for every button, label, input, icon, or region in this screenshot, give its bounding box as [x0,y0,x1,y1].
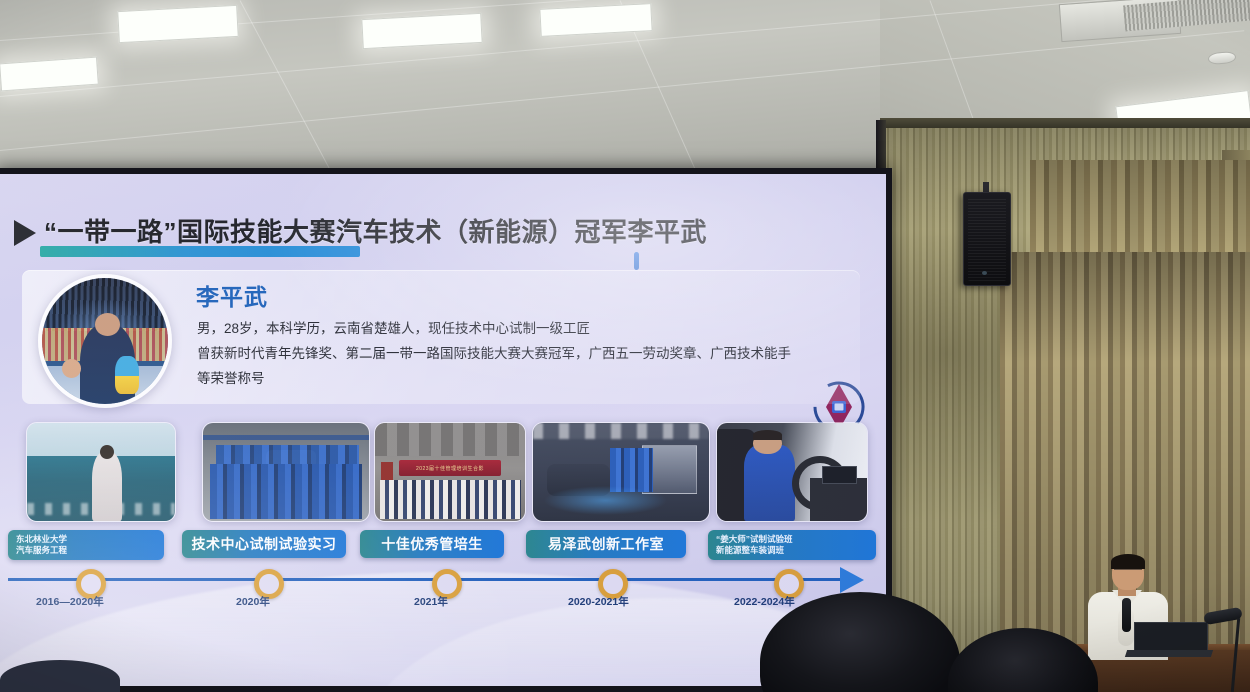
profile-description: 男，28岁，本科学历，云南省楚雄人，现任技术中心试制一级工匠 曾获新时代青年先锋… [197,316,847,391]
photo-driver-hair [753,430,782,440]
timeline-chip-title: 十佳优秀管培生 [381,534,483,554]
slide-title-row: “一带一路”国际技能大赛汽车技术（新能源）冠军李平武 [14,212,874,258]
photo-award-ceremony: 2023届十佳管理培训生合影 [375,423,525,521]
presenter-hair [1111,554,1145,569]
photo-lab-glow [544,486,667,515]
photo-thumbnail [202,422,370,522]
ceiling-light-panel [117,5,239,43]
photo-driver-body [744,445,795,521]
presentation-slide: “一带一路”国际技能大赛汽车技术（新能源）冠军李平武 李平武 男 [0,174,886,686]
timeline-axis [8,578,842,581]
profile-line: 曾获新时代青年先锋奖、第二届一带一路国际技能大赛大赛冠军，广西五一劳动奖章、广西… [197,341,847,366]
photo-banner-text: 2023届十佳管理培训生合影 [399,460,501,476]
timeline-chip-title: 技术中心试制试验实习 [192,534,337,554]
photo-infotainment-screen [822,466,857,484]
photo-thumbnail [716,422,868,522]
photo-lab-crew [610,448,652,491]
photo-thumbnail: 2023届十佳管理培训生合影 [374,422,526,522]
audience-shoulder [0,660,120,692]
photo-dashboard [810,478,867,521]
photo-lab-lights [533,423,709,439]
timeline-chip: 十佳优秀管培生 [360,530,504,558]
timeline-chip-title: “姜大师”试制试验班 [716,534,793,545]
photo-beam [203,435,369,440]
timeline-chip: 易泽武创新工作室 [526,530,686,558]
timeline-date: 2020-2021年 [568,594,629,609]
timeline-chip: 东北林业大学 汽车服务工程 [8,530,164,560]
stand-microphone [1200,610,1248,692]
timeline-chip-title: 东北林业大学 [16,534,67,545]
photo-thumbnail [26,422,176,522]
laptop-screen [1134,622,1208,652]
photo-strip: 2023届十佳管理培训生合影 [26,422,866,522]
profile-name: 李平武 [196,278,268,312]
laptop [1126,622,1208,658]
photo-group-row [380,480,521,519]
glasses-icon [1114,569,1142,576]
photo-person [92,452,122,521]
photo-sea-portrait [27,423,175,521]
ceiling-light-panel [361,13,482,49]
photo-innovation-lab [533,423,709,521]
triangle-arrow-icon [14,220,36,246]
photo-thumbnail [532,422,710,522]
ceiling-light-panel [539,3,652,37]
microphone-stand-pole [1231,618,1240,692]
photo-team-group [203,423,369,521]
profile-line: 等荣誉称号 [197,366,847,391]
timeline-date: 2022-2024年 [734,594,795,609]
avatar-hand [62,359,81,378]
title-tick-accent [634,252,639,270]
career-timeline: 东北林业大学 汽车服务工程 2016—2020年 技术中心试制试验实习 2020… [8,530,880,628]
slide-title: “一带一路”国际技能大赛汽车技术（新能源）冠军李平武 [44,212,707,249]
timeline-chip-subtitle: 新能源整车装调班 [716,545,784,556]
timeline-chip-subtitle: 汽车服务工程 [16,545,67,556]
photo-red-banner: 2023届十佳管理培训生合影 [399,460,501,476]
timeline-date: 2021年 [414,594,448,609]
timeline-chip: 技术中心试制试验实习 [182,530,346,558]
photo-crew-front-row [210,464,363,519]
timeline-chip-title: 易泽武创新工作室 [548,534,664,554]
timeline-date: 2016—2020年 [36,594,104,609]
photo-hall-ceiling [375,423,525,456]
avatar-face [95,313,120,336]
photo-scene: “一带一路”国际技能大赛汽车技术（新能源）冠军李平武 李平武 男 [0,0,1250,692]
profile-line: 男，28岁，本科学历，云南省楚雄人，现任技术中心试制一级工匠 [197,316,847,341]
speaker-led [982,271,987,275]
avatar-mascot [115,356,139,394]
timeline-arrow-icon [840,567,864,593]
speaker-grille [968,197,1006,281]
avatar [38,274,172,408]
timeline-date: 2020年 [236,594,270,609]
photo-driving-test [717,423,867,521]
timeline-chip: “姜大师”试制试验班 新能源整车装调班 [708,530,876,560]
wall-speaker [963,192,1011,286]
